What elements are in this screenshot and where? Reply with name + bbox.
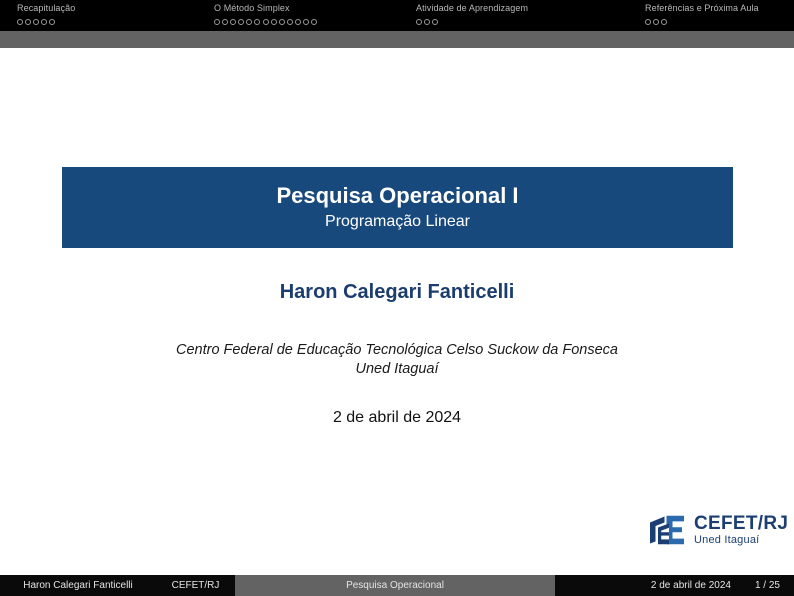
nav-section-label: Recapitulação (17, 2, 197, 14)
nav-dot[interactable] (416, 19, 422, 25)
nav-section-o-metodo-simplex[interactable]: O Método Simplex (197, 0, 399, 31)
navigation-accent-band (0, 31, 794, 48)
footer-author: Haron Calegari Fanticelli (0, 575, 156, 596)
nav-dot[interactable] (271, 19, 277, 25)
nav-dot[interactable] (653, 19, 659, 25)
institute-line-1: Centro Federal de Educação Tecnológica C… (0, 341, 794, 360)
nav-dot[interactable] (17, 19, 23, 25)
navigation-bar: Recapitulação O Método Simplex Atividade… (0, 0, 794, 31)
presentation-date: 2 de abril de 2024 (0, 409, 794, 427)
logo-title: CEFET/RJ (694, 514, 788, 534)
nav-dot[interactable] (424, 19, 430, 25)
nav-section-label: Referências e Próxima Aula (645, 2, 794, 14)
nav-dot[interactable] (432, 19, 438, 25)
nav-dot[interactable] (287, 19, 293, 25)
nav-dot[interactable] (41, 19, 47, 25)
nav-dot[interactable] (214, 19, 220, 25)
author-name: Haron Calegari Fanticelli (0, 281, 794, 304)
nav-dot[interactable] (222, 19, 228, 25)
nav-dot[interactable] (33, 19, 39, 25)
nav-dot[interactable] (238, 19, 244, 25)
institute-block: Centro Federal de Educação Tecnológica C… (0, 341, 794, 379)
page-subtitle: Programação Linear (325, 211, 470, 233)
nav-section-atividade-de-aprendizagem[interactable]: Atividade de Aprendizagem (399, 0, 628, 31)
nav-dot[interactable] (303, 19, 309, 25)
nav-section-dots[interactable] (645, 17, 794, 26)
nav-section-label: O Método Simplex (214, 2, 399, 14)
nav-section-dots[interactable] (416, 17, 628, 26)
nav-section-dots[interactable] (17, 17, 197, 26)
nav-dot[interactable] (25, 19, 31, 25)
nav-dot[interactable] (279, 19, 285, 25)
page-title: Pesquisa Operacional I (276, 182, 518, 209)
logo-text-block: CEFET/RJ Uned Itaguaí (694, 514, 788, 547)
footer-title: Pesquisa Operacional (235, 575, 555, 596)
nav-section-dots[interactable] (214, 17, 399, 26)
cefet-rj-logo: CEFET/RJ Uned Itaguaí (648, 509, 776, 551)
footer-page-number: 1 / 25 (755, 580, 780, 591)
nav-dot[interactable] (246, 19, 252, 25)
institute-line-2: Uned Itaguaí (0, 360, 794, 379)
logo-subtitle: Uned Itaguaí (694, 534, 788, 547)
footer-institute: CEFET/RJ (156, 575, 235, 596)
nav-dot[interactable] (230, 19, 236, 25)
slide-root: Recapitulação O Método Simplex Atividade… (0, 0, 794, 596)
nav-dot[interactable] (661, 19, 667, 25)
nav-dot[interactable] (295, 19, 301, 25)
title-block: Pesquisa Operacional I Programação Linea… (62, 167, 733, 248)
nav-section-referencias-e-proxima-aula[interactable]: Referências e Próxima Aula (628, 0, 794, 31)
nav-section-recapitulacao[interactable]: Recapitulação (0, 0, 197, 31)
nav-section-label: Atividade de Aprendizagem (416, 2, 628, 14)
nav-dot[interactable] (254, 19, 260, 25)
nav-dot[interactable] (49, 19, 55, 25)
cefet-rj-logo-icon (648, 513, 688, 547)
footer-right: 2 de abril de 2024 1 / 25 (555, 575, 794, 596)
nav-dot[interactable] (645, 19, 651, 25)
footer-bar: Haron Calegari Fanticelli CEFET/RJ Pesqu… (0, 575, 794, 596)
footer-date: 2 de abril de 2024 (651, 580, 731, 591)
nav-dot[interactable] (311, 19, 317, 25)
nav-dot[interactable] (263, 19, 269, 25)
